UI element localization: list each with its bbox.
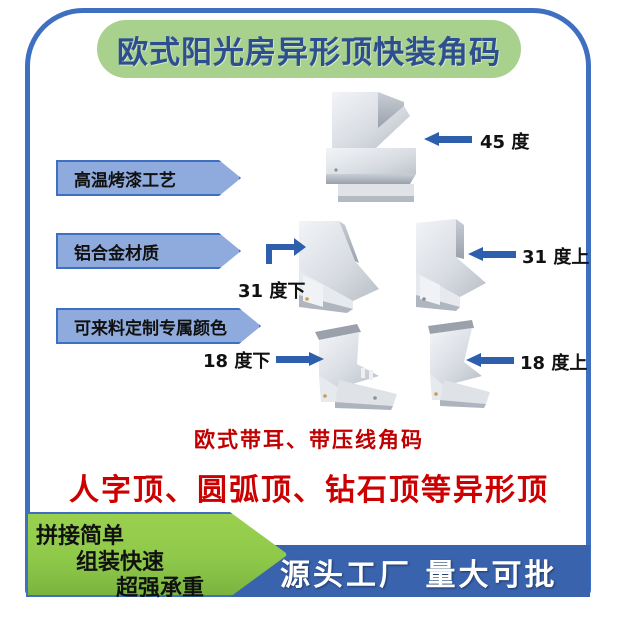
arrow-left-icon-45 — [424, 132, 472, 146]
angle-label-18-lower: 18 度下 — [203, 347, 270, 373]
feature-banner-3: 可来料定制专属颜色 — [56, 308, 261, 344]
arrow-left-icon-31-upper — [468, 247, 516, 261]
title-pill: 欧式阳光房异形顶快装角码 — [97, 20, 521, 78]
page-title: 欧式阳光房异形顶快装角码 — [117, 27, 501, 72]
angle-label-18-upper: 18 度上 — [520, 349, 587, 375]
feature-label-2: 铝合金材质 — [58, 239, 159, 264]
feature-label-3: 可来料定制专属颜色 — [58, 314, 227, 339]
promo-text-big: 人字顶、圆弧顶、钻石顶等异形顶 — [0, 465, 618, 509]
product-image-31-degree-upper — [408, 213, 494, 313]
angle-label-31-upper: 31 度上 — [522, 243, 589, 269]
angle-label-45: 45 度 — [480, 128, 529, 154]
product-image-45-degree — [318, 88, 426, 206]
feature-banner-1: 高温烤漆工艺 — [56, 160, 241, 196]
arrow-left-icon-18-upper — [466, 353, 514, 367]
feature-banner-2: 铝合金材质 — [56, 233, 241, 269]
bottom-blue-bar-text: 源头工厂 量大可批 — [280, 552, 590, 592]
green-banner-line-3: 超强承重 — [116, 570, 204, 602]
angle-label-31-lower: 31 度下 — [238, 277, 305, 303]
arrow-elbow-up-right-icon-31-lower — [262, 236, 308, 266]
product-poster: 欧式阳光房异形顶快装角码 高温烤漆工艺 铝合金材质 可来料定制专属颜色 — [0, 0, 618, 618]
arrow-right-icon-18-lower — [276, 352, 324, 366]
promo-text-small: 欧式带耳、带压线角码 — [0, 424, 618, 454]
feature-label-1: 高温烤漆工艺 — [58, 166, 176, 191]
